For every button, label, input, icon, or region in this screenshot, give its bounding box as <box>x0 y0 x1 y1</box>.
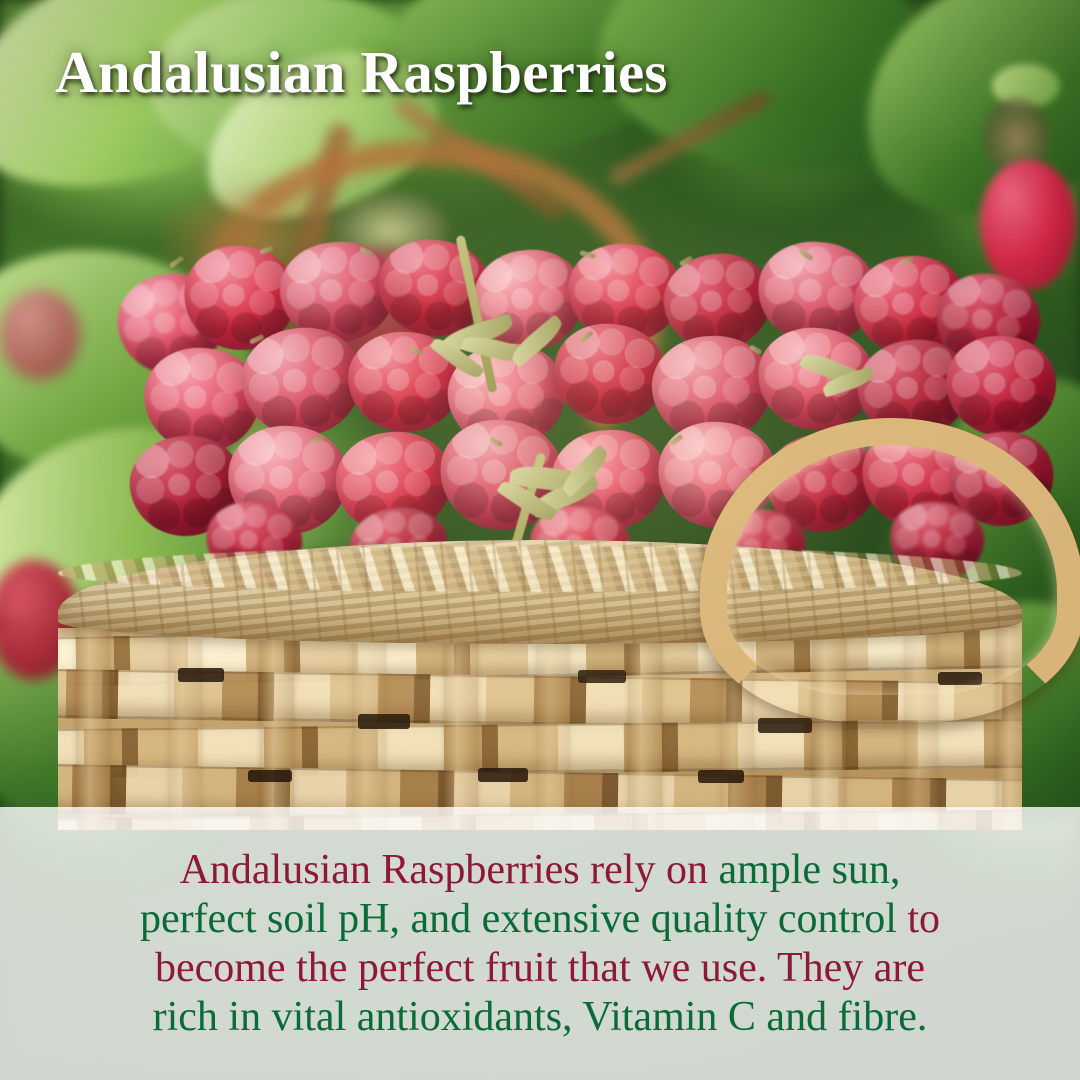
basket-stave <box>168 628 202 830</box>
caption-text: Andalusian Raspberries rely on ample sun… <box>40 846 1040 1042</box>
caption-line-3: become the perfect fruit that we use. Th… <box>40 944 1040 993</box>
caption-segment: to <box>907 896 940 942</box>
basket-stave <box>444 628 478 830</box>
caption-segment: ample sun, <box>718 847 900 893</box>
basket-stave <box>76 628 110 830</box>
caption-line-2: perfect soil pH, and extensive quality c… <box>40 895 1040 944</box>
caption-panel: Andalusian Raspberries rely on ample sun… <box>0 807 1080 1080</box>
weave-gap <box>578 670 626 683</box>
weave-gap <box>178 668 224 682</box>
weave-gap <box>358 714 410 729</box>
berry-hair <box>169 255 185 268</box>
page-title: Andalusian Raspberries <box>55 38 668 107</box>
caption-line-1: Andalusian Raspberries rely on ample sun… <box>40 846 1040 895</box>
basket-stave <box>536 628 570 830</box>
hanging-raspberry <box>980 160 1076 290</box>
basket-stave <box>260 628 294 830</box>
caption-segment: become the perfect fruit that we use. Th… <box>155 945 925 991</box>
weave-gap <box>698 770 744 783</box>
caption-line-4: rich in vital antioxidants, Vitamin C an… <box>40 993 1040 1042</box>
basket-stave <box>352 628 386 830</box>
raspberry-info-card: Andalusian Raspberries Andalusian Raspbe… <box>0 0 1080 1080</box>
weave-gap <box>758 718 812 733</box>
basket-stave <box>628 628 662 830</box>
weave-gap <box>248 770 292 782</box>
caption-segment: rich in vital antioxidants, Vitamin C an… <box>153 994 928 1040</box>
caption-segment: Andalusian Raspberries rely on <box>180 847 719 893</box>
caption-segment: perfect soil pH, and extensive quality c… <box>140 896 907 942</box>
weave-gap <box>478 768 528 782</box>
background-raspberry <box>0 290 80 380</box>
